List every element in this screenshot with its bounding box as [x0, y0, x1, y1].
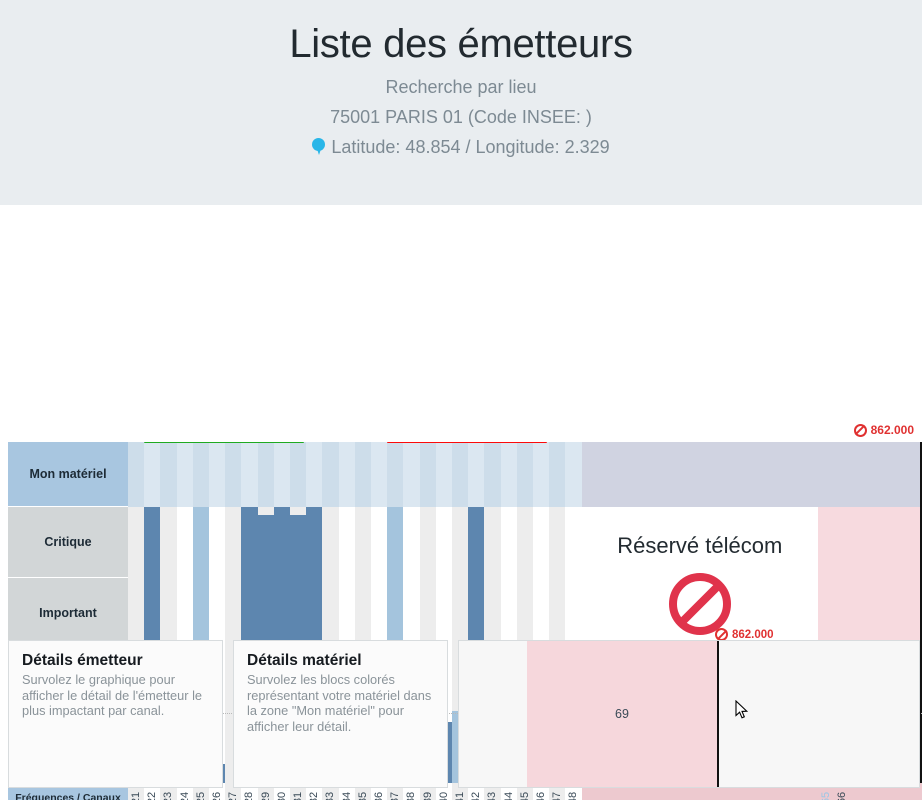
frequency-limit-value: 862.000: [871, 423, 914, 437]
my-material-cell[interactable]: [290, 442, 306, 507]
my-material-cell[interactable]: [468, 442, 484, 507]
material-details-title: Détails matériel: [247, 652, 434, 670]
my-material-cell[interactable]: [177, 442, 193, 507]
mini-reserved-band: 69: [527, 641, 717, 787]
my-material-cell[interactable]: [160, 442, 176, 507]
my-material-cell[interactable]: [420, 442, 436, 507]
reserved-title: Réservé télécom: [617, 533, 782, 559]
my-material-cell[interactable]: [387, 442, 403, 507]
mini-limit-divider: [717, 641, 719, 787]
red-range-bar[interactable]: [387, 442, 547, 443]
mini-spectrum-chart[interactable]: 69: [458, 640, 920, 788]
emitter-details-title: Détails émetteur: [22, 652, 209, 670]
spectrum-chart: 862.000 Mon matérielCritiqueImportantMoy…: [0, 205, 922, 605]
my-material-cell[interactable]: [225, 442, 241, 507]
row-label-text: Important: [39, 606, 97, 620]
forbidden-icon: [854, 424, 867, 437]
map-pin-icon: [312, 138, 325, 156]
row-label-text: Mon matériel: [29, 467, 106, 481]
my-material-cell[interactable]: [322, 442, 338, 507]
reserved-material-fill: [582, 442, 818, 507]
material-details-panel: Détails matériel Survolez les blocs colo…: [233, 640, 448, 788]
my-material-cell[interactable]: [565, 442, 581, 507]
my-material-cell[interactable]: [533, 442, 549, 507]
my-material-cell[interactable]: [144, 442, 160, 507]
page-title: Liste des émetteurs: [0, 16, 922, 72]
material-details-text: Survolez les blocs colorés représentant …: [247, 672, 434, 734]
bottom-panels: Détails émetteur Survolez le graphique p…: [0, 640, 922, 800]
my-material-cell[interactable]: [306, 442, 322, 507]
my-material-cell[interactable]: [452, 442, 468, 507]
row-label-text: Critique: [44, 535, 91, 549]
mini-band-label: 69: [615, 707, 629, 721]
green-range-bar[interactable]: [144, 442, 304, 443]
row-label-mon-mat-riel: Mon matériel: [8, 442, 128, 507]
my-material-cell[interactable]: [403, 442, 419, 507]
my-material-cell[interactable]: [436, 442, 452, 507]
frequency-limit-label: 862.000: [854, 423, 914, 437]
my-material-cell[interactable]: [549, 442, 565, 507]
my-material-cell[interactable]: [258, 442, 274, 507]
geo-text: Latitude: 48.854 / Longitude: 2.329: [331, 132, 609, 162]
my-material-cell[interactable]: [128, 442, 144, 507]
my-material-cell[interactable]: [355, 442, 371, 507]
emitter-details-text: Survolez le graphique pour afficher le d…: [22, 672, 209, 719]
row-label-important: Important: [8, 578, 128, 648]
my-material-cell[interactable]: [339, 442, 355, 507]
my-material-cell[interactable]: [834, 442, 850, 507]
location-label: 75001 PARIS 01 (Code INSEE: ): [0, 102, 922, 132]
my-material-cell[interactable]: [209, 442, 225, 507]
my-material-cell[interactable]: [241, 442, 257, 507]
forbidden-icon: [669, 573, 731, 635]
page-header: Liste des émetteurs Recherche par lieu 7…: [0, 0, 922, 205]
my-material-cell[interactable]: [818, 442, 834, 507]
geo-coordinates: Latitude: 48.854 / Longitude: 2.329: [312, 132, 609, 162]
mouse-cursor: [735, 700, 749, 720]
mini-chart-limit-value: 862.000: [732, 629, 774, 641]
my-material-cell[interactable]: [274, 442, 290, 507]
my-material-cell[interactable]: [371, 442, 387, 507]
reserved-material-tail: [850, 442, 922, 507]
search-mode-label: Recherche par lieu: [0, 72, 922, 102]
my-material-cell[interactable]: [517, 442, 533, 507]
row-label-critique: Critique: [8, 507, 128, 578]
my-material-cell[interactable]: [501, 442, 517, 507]
my-material-cell[interactable]: [484, 442, 500, 507]
my-material-cell[interactable]: [193, 442, 209, 507]
emitter-details-panel: Détails émetteur Survolez le graphique p…: [8, 640, 223, 788]
